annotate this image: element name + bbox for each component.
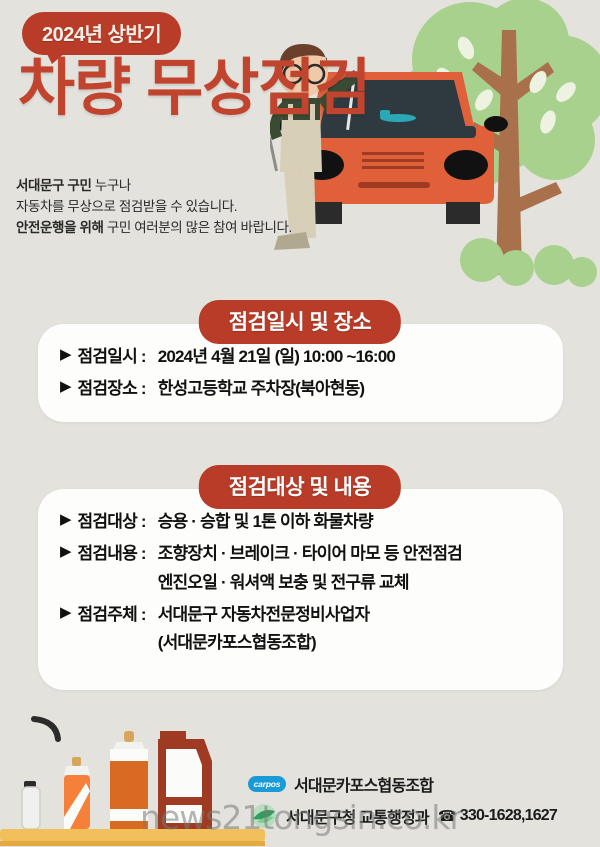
info-row: ▶ 점검일시 : 2024년 4월 21일 (일) 10:00 ~16:00 (60, 346, 563, 367)
footer-row-office: 서대문구청 교통행정과 ☎ 330-1628,1627 (248, 803, 593, 829)
footer-phone-number: 330-1628,1627 (460, 807, 557, 825)
season-badge: 2024년 상반기 (22, 12, 181, 55)
footer-row-org: carpos 서대문카포스협동조합 (248, 772, 593, 796)
bullet-triangle-icon: ▶ (60, 511, 72, 530)
info-row: ▶ 점검주체 : 서대문구 자동차전문정비사업자 (서대문카포스협동조합) (60, 604, 563, 654)
info-card-scope: ▶ 점검대상 : 승용 · 승합 및 1톤 이하 화물차량 ▶ 점검내용 : 조… (38, 489, 563, 690)
info-row-value: 조향장치 · 브레이크 · 타이어 마모 등 안전점검 엔진오일 · 워셔액 보… (158, 543, 462, 593)
info-row-value-main: 서대문구 자동차전문정비사업자 (158, 605, 370, 624)
oil-jug-icon (158, 731, 212, 829)
info-row-value: 서대문구 자동차전문정비사업자 (서대문카포스협동조합) (158, 604, 370, 654)
scene-svg (270, 0, 600, 305)
info-row-value: 2024년 4월 21일 (일) 10:00 ~16:00 (158, 346, 395, 367)
info-row-label: 점검일시 : (78, 346, 146, 367)
footer-org-name: 서대문카포스협동조합 (294, 772, 433, 796)
oil-can-icon (22, 719, 58, 829)
lead-line-2: 자동차를 무상으로 점검받을 수 있습니다. (16, 197, 292, 218)
bullet-triangle-icon: ▶ (60, 378, 72, 397)
info-row: ▶ 점검장소 : 한성고등학교 주차장(북아현동) (60, 378, 563, 399)
illustration-scene (270, 0, 600, 305)
seodaemun-gu-logo-icon (248, 803, 280, 829)
info-row-label: 점검대상 : (78, 511, 146, 532)
shelf-svg (0, 697, 265, 847)
bullet-triangle-icon: ▶ (60, 346, 72, 365)
info-row-label: 점검장소 : (78, 378, 146, 399)
footer: carpos 서대문카포스협동조합 서대문구청 교통행정과 ☎ 330-1628… (248, 772, 593, 829)
season-badge-wrap: 2024년 상반기 (22, 12, 181, 55)
info-row-value: 한성고등학교 주차장(북아현동) (158, 378, 365, 399)
carpos-logo-icon: carpos (248, 776, 286, 792)
lead-line-3-rest: 구민 여러분의 많은 참여 바랍니다. (104, 220, 292, 235)
lead-line-3-bold: 안전운행을 위해 (16, 220, 104, 235)
info-rows-scope: ▶ 점검대상 : 승용 · 승합 및 1톤 이하 화물차량 ▶ 점검내용 : 조… (38, 489, 563, 653)
info-row-label: 점검주체 : (78, 604, 146, 625)
info-row-value-main: 조향장치 · 브레이크 · 타이어 마모 등 안전점검 (158, 544, 462, 563)
section-title-schedule: 점검일시 및 장소 (199, 300, 401, 344)
lead-line-3: 안전운행을 위해 구민 여러분의 많은 참여 바랍니다. (16, 218, 292, 239)
footer-office-name: 서대문구청 교통행정과 (286, 804, 429, 828)
info-row-value-sub: (서대문카포스협동조합) (158, 632, 370, 653)
info-row: ▶ 점검대상 : 승용 · 승합 및 1톤 이하 화물차량 (60, 511, 563, 532)
lead-line-1-bold: 서대문구 구민 (16, 178, 91, 193)
lead-line-1: 서대문구 구민 누구나 (16, 176, 292, 197)
oil-bottles-illustration (0, 697, 265, 847)
spray-bottle-icon (64, 757, 90, 829)
info-row: ▶ 점검내용 : 조향장치 · 브레이크 · 타이어 마모 등 안전점검 엔진오… (60, 543, 563, 593)
poster-root: 2024년 상반기 차량 무상점검 서대문구 구민 누구나 자동차를 무상으로 … (0, 0, 600, 847)
phone-icon: ☎ (438, 807, 456, 825)
oil-bottle-icon (110, 731, 148, 829)
page-title: 차량 무상점검 (18, 58, 370, 120)
info-row-value-sub: 엔진오일 · 워셔액 보충 및 전구류 교체 (158, 572, 462, 593)
lead-paragraph: 서대문구 구민 누구나 자동차를 무상으로 점검받을 수 있습니다. 안전운행을… (16, 176, 292, 239)
lead-line-1-rest: 누구나 (91, 178, 130, 193)
section-title-scope: 점검대상 및 내용 (199, 465, 401, 509)
info-row-label: 점검내용 : (78, 543, 146, 564)
bullet-triangle-icon: ▶ (60, 543, 72, 562)
info-row-value: 승용 · 승합 및 1톤 이하 화물차량 (158, 511, 373, 532)
bullet-triangle-icon: ▶ (60, 604, 72, 623)
